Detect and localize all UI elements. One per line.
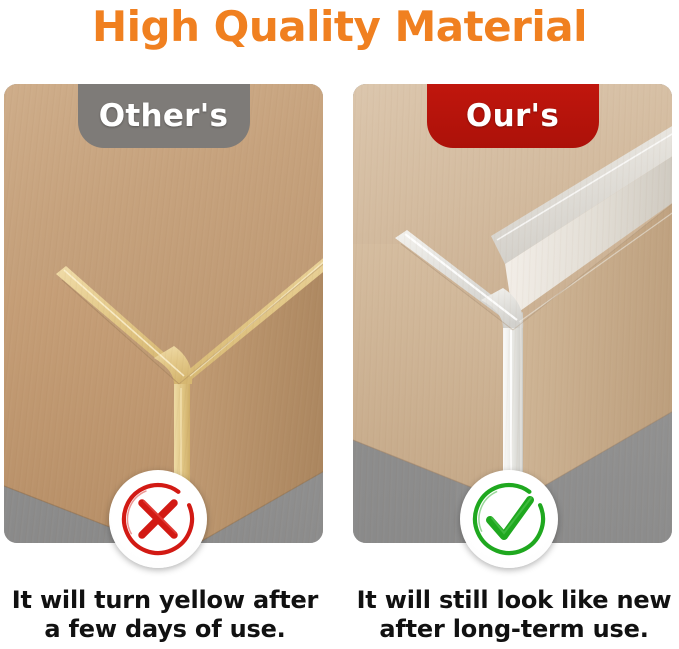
caption-others-line1: It will turn yellow after — [0, 586, 330, 615]
badge-ours: Our's — [427, 84, 599, 148]
page-title: High Quality Material — [0, 2, 679, 52]
caption-ours-line1: It will still look like new — [349, 586, 679, 615]
badge-others: Other's — [78, 84, 250, 148]
cross-icon — [117, 478, 199, 560]
caption-others-line2: a few days of use. — [0, 615, 330, 644]
cross-mark-badge — [109, 470, 207, 568]
check-mark-badge — [460, 470, 558, 568]
caption-ours: It will still look like new after long-t… — [349, 586, 679, 644]
comparison-infographic: High Quality Material — [0, 0, 679, 649]
caption-others: It will turn yellow after a few days of … — [0, 586, 330, 644]
caption-ours-line2: after long-term use. — [349, 615, 679, 644]
check-icon — [468, 478, 550, 560]
